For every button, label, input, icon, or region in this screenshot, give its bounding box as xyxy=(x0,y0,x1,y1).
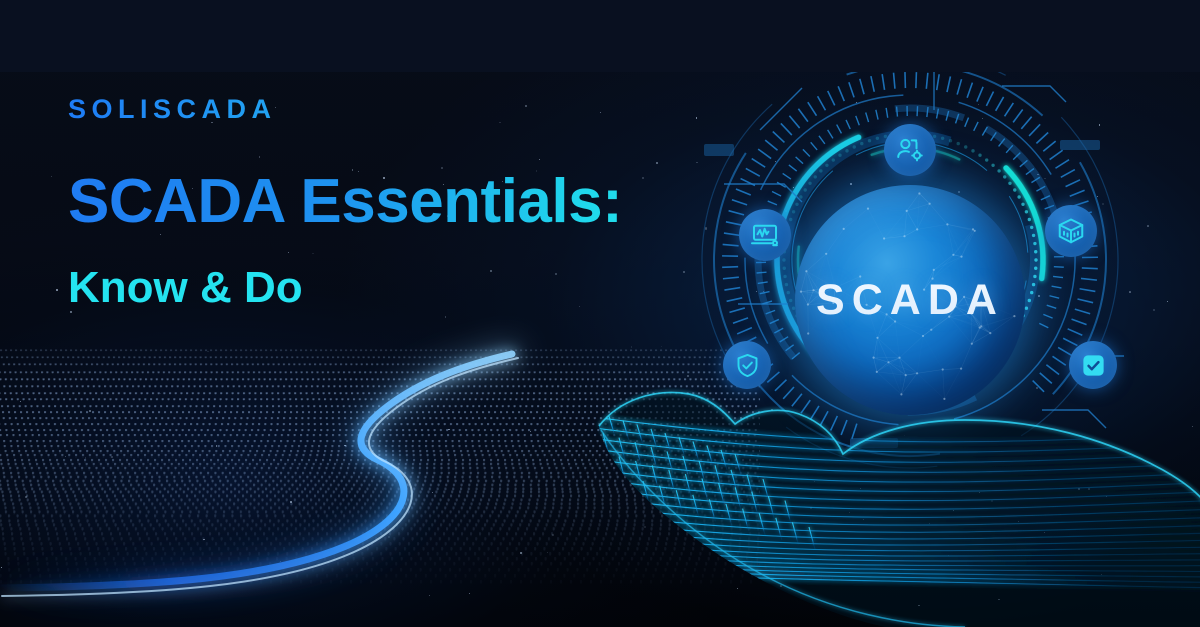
hud-tick xyxy=(1053,356,1066,365)
hud-tick xyxy=(828,91,835,105)
hud-tick xyxy=(1055,160,1069,169)
hud-dot xyxy=(838,154,841,157)
hud-tick xyxy=(916,72,917,88)
hud-tick xyxy=(876,110,878,120)
hud-tick xyxy=(1043,314,1052,318)
star-speck xyxy=(20,401,21,402)
brand-logo[interactable]: SOLISCADA xyxy=(68,96,708,123)
top-band xyxy=(0,0,1200,72)
hud-dot xyxy=(964,145,967,148)
hud-tick xyxy=(772,192,781,196)
hud-dot xyxy=(1034,250,1037,253)
hud-tick xyxy=(1075,309,1090,314)
hud-tick xyxy=(1021,117,1031,129)
hud-tick xyxy=(733,318,748,323)
hud-tick xyxy=(828,130,833,138)
hud-tick xyxy=(849,82,854,97)
hud-tick xyxy=(937,74,939,90)
hud-tick xyxy=(729,308,744,312)
hud-tick xyxy=(1052,286,1062,288)
hud-tick xyxy=(856,116,860,125)
star-speck xyxy=(111,456,113,458)
hud-tick xyxy=(926,73,928,89)
hud-tick xyxy=(1081,278,1097,280)
star-speck xyxy=(56,289,57,290)
hud-dot xyxy=(1030,291,1033,294)
hud-tick xyxy=(758,149,771,158)
hud-tick xyxy=(789,116,799,128)
hud-tick xyxy=(726,222,742,225)
hud-tick xyxy=(796,157,803,164)
hud-dot xyxy=(814,175,817,178)
hud-dot xyxy=(978,154,981,157)
hud-tick xyxy=(965,118,969,127)
hud-tick xyxy=(1029,124,1040,136)
hud-dot xyxy=(997,169,1000,172)
hand-mesh-line xyxy=(595,412,601,432)
hero-banner: SCADA xyxy=(0,0,1200,627)
star-speck xyxy=(631,346,632,347)
page-subtitle: Know & Do xyxy=(68,265,708,311)
hud-tick xyxy=(746,168,760,176)
hud-tick xyxy=(1049,296,1059,298)
hud-dot xyxy=(1032,283,1035,286)
hud-tick xyxy=(737,328,752,334)
hud-tick xyxy=(947,76,950,92)
hero-text-block: SOLISCADA SCADA Essentials: Know & Do xyxy=(68,96,708,311)
hud-tick xyxy=(860,79,864,94)
hud-dot xyxy=(1003,175,1006,178)
hud-dot xyxy=(876,137,879,140)
hud-tick xyxy=(768,201,777,205)
hud-tick xyxy=(773,132,785,143)
hud-tick xyxy=(1070,190,1085,196)
hud-tick xyxy=(986,92,993,106)
hud-dot xyxy=(1033,242,1036,245)
hud-dot xyxy=(949,139,952,142)
hud-tick xyxy=(783,173,791,179)
hud-tick xyxy=(1063,338,1077,345)
hud-dot xyxy=(825,164,828,167)
hud-tick xyxy=(1068,329,1083,335)
hud-dot xyxy=(985,158,988,161)
star-speck xyxy=(65,456,66,457)
hud-dot xyxy=(971,149,974,152)
wireframe-hand xyxy=(585,372,1200,627)
hud-tick xyxy=(1061,170,1075,178)
hud-tick xyxy=(765,140,777,150)
hud-dot xyxy=(1025,210,1028,213)
star-speck xyxy=(25,496,27,498)
hud-tick xyxy=(846,120,850,129)
hud-dot xyxy=(783,275,786,278)
module-icon[interactable] xyxy=(1045,205,1097,257)
hud-tick xyxy=(723,244,739,245)
person-gear-icon xyxy=(895,135,925,165)
hud-tick xyxy=(736,189,751,195)
hud-tick xyxy=(837,125,842,134)
hud-tick xyxy=(882,74,884,90)
hud-tick xyxy=(722,267,738,268)
hud-dot xyxy=(1032,234,1035,237)
hud-tick xyxy=(1043,141,1055,151)
light-trail xyxy=(120,340,590,620)
hud-tick xyxy=(752,159,765,168)
hud-dot xyxy=(782,258,785,261)
hud-dot xyxy=(819,169,822,172)
hud-tick xyxy=(1013,110,1023,123)
hud-dot xyxy=(785,283,788,286)
hud-tick xyxy=(897,107,898,117)
hud-tick xyxy=(1072,319,1087,325)
hud-tick xyxy=(818,96,826,110)
star-speck xyxy=(1,567,2,568)
page-title: SCADA Essentials: xyxy=(68,169,708,234)
hud-tick xyxy=(1078,299,1094,303)
hud-dot xyxy=(845,149,848,152)
hud-tick xyxy=(811,142,817,150)
hud-dot xyxy=(789,218,792,221)
hud-dot xyxy=(1033,275,1036,278)
laptop-waveform-icon xyxy=(750,220,780,250)
hud-tick xyxy=(1058,347,1072,355)
hud-tick xyxy=(819,136,825,144)
hud-tick xyxy=(871,76,874,92)
hud-dot xyxy=(957,142,960,145)
hud-dot xyxy=(941,137,944,140)
hud-dot xyxy=(868,139,871,142)
hud-dot xyxy=(1028,218,1031,221)
hud-tick xyxy=(808,102,817,115)
hud-tick xyxy=(724,233,740,235)
cube-icon xyxy=(1056,216,1086,246)
hud-dot xyxy=(860,142,863,145)
hud-dot xyxy=(933,135,936,138)
hud-tick xyxy=(757,272,767,273)
hud-tick xyxy=(996,97,1004,111)
hud-dot xyxy=(991,164,994,167)
hud-tick xyxy=(1005,103,1014,116)
hud-dot xyxy=(1025,307,1028,310)
hud-dot xyxy=(1028,299,1031,302)
hud-tick xyxy=(1080,289,1096,292)
hud-tick xyxy=(866,113,869,123)
hud-tick xyxy=(1066,180,1080,187)
hud-tick xyxy=(977,87,983,102)
hud-dot xyxy=(1030,226,1033,229)
hud-tick xyxy=(798,109,808,122)
hud-dot xyxy=(783,267,786,270)
hud-dot xyxy=(1034,258,1037,261)
hud-tick xyxy=(732,200,747,205)
hud-tick xyxy=(1039,323,1048,327)
hud-tick xyxy=(1050,150,1063,159)
hud-tick xyxy=(886,108,888,118)
hud-tick xyxy=(838,86,844,101)
hud-tick xyxy=(723,277,739,279)
operator-settings-icon[interactable] xyxy=(884,124,936,176)
hud-tick xyxy=(789,165,797,171)
hud-tick xyxy=(724,288,740,291)
hud-dot xyxy=(789,299,792,302)
hud-tick xyxy=(781,123,792,135)
monitoring-icon[interactable] xyxy=(739,209,791,261)
hud-dot xyxy=(787,291,790,294)
hud-tick xyxy=(1053,276,1063,277)
hud-tick xyxy=(894,73,895,89)
hud-tick xyxy=(1036,133,1048,144)
hud-tick xyxy=(729,211,744,215)
hud-tick xyxy=(1047,305,1057,308)
hud-dot xyxy=(853,145,856,148)
hud-dot xyxy=(832,158,835,161)
hud-tick xyxy=(974,122,978,131)
hud-tick xyxy=(1082,268,1098,269)
hud-tick xyxy=(727,298,743,302)
star-speck xyxy=(89,410,91,412)
hud-tick xyxy=(957,79,961,94)
hud-tick xyxy=(967,83,972,98)
hud-dot xyxy=(1034,267,1037,270)
hud-tick xyxy=(803,149,810,156)
